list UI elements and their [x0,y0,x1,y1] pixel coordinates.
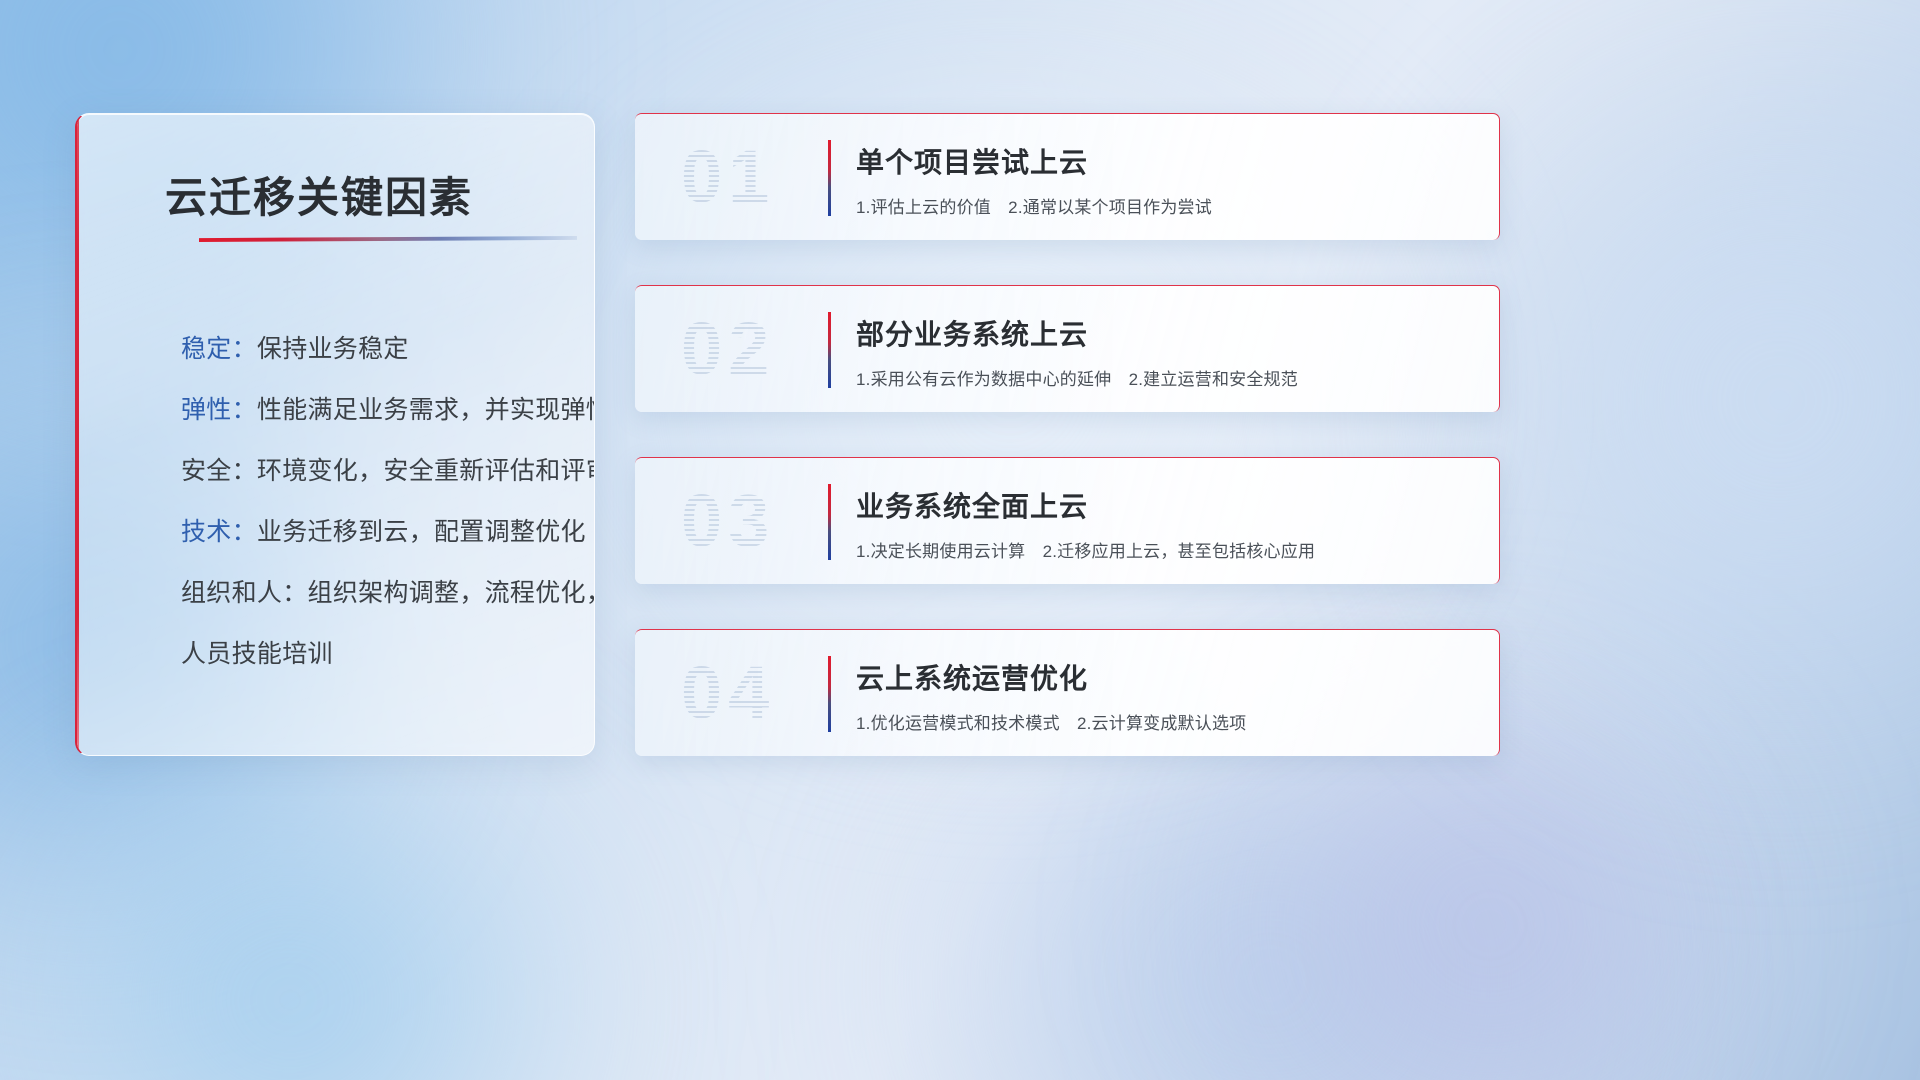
list-item: 组织和人：组织架构调整，流程优化， [181,563,570,624]
factor-label: 技术： [181,518,257,546]
step-description: 1.采用公有云作为数据中心的延伸 2.建立运营和安全规范 [856,365,1298,390]
list-item: 弹性：性能满足业务需求，并实现弹性 [181,380,570,441]
factor-text: 组织架构调整，流程优化， [308,579,595,607]
list-item: 技术：业务迁移到云，配置调整优化 [181,502,570,563]
factor-label: 组织和人： [181,579,308,607]
step-divider [828,484,831,560]
factor-text: 人员技能培训 [181,640,333,668]
step-divider [828,312,831,388]
key-factors-list: 稳定：保持业务稳定 弹性：性能满足业务需求，并实现弹性 安全：环境变化，安全重新… [181,319,570,685]
step-number-watermark: 02 [681,312,775,386]
step-number-watermark: 04 [681,656,775,730]
step-card[interactable]: 04 云上系统运营优化 1.优化运营模式和技术模式 2.云计算变成默认选项 [635,629,1500,756]
step-heading: 单个项目尝试上云 [856,141,1088,181]
step-card[interactable]: 03 业务系统全面上云 1.决定长期使用云计算 2.迁移应用上云，甚至包括核心应… [635,457,1500,584]
step-divider [828,140,831,216]
step-heading: 业务系统全面上云 [856,485,1088,525]
factor-label: 安全： [181,457,257,485]
factor-text: 保持业务稳定 [257,335,409,363]
title-underline-rule [199,236,577,242]
list-item: 人员技能培训 [181,624,570,685]
key-factors-panel: 云迁移关键因素 稳定：保持业务稳定 弹性：性能满足业务需求，并实现弹性 安全：环… [75,113,595,756]
step-heading: 云上系统运营优化 [856,657,1088,697]
page-title: 云迁移关键因素 [165,164,473,225]
factor-text: 业务迁移到云，配置调整优化 [257,518,586,546]
step-card[interactable]: 02 部分业务系统上云 1.采用公有云作为数据中心的延伸 2.建立运营和安全规范 [635,285,1500,412]
step-description: 1.评估上云的价值 2.通常以某个项目作为尝试 [856,193,1212,218]
slide-stage: 云迁移关键因素 稳定：保持业务稳定 弹性：性能满足业务需求，并实现弹性 安全：环… [0,0,1920,1080]
step-heading: 部分业务系统上云 [856,313,1088,353]
factor-text: 环境变化，安全重新评估和评审 [257,457,595,485]
step-description: 1.优化运营模式和技术模式 2.云计算变成默认选项 [856,709,1246,734]
step-number-watermark: 01 [681,140,775,214]
factor-label: 稳定： [181,335,257,363]
factor-label: 弹性： [181,396,257,424]
step-number-watermark: 03 [681,484,775,558]
step-description: 1.决定长期使用云计算 2.迁移应用上云，甚至包括核心应用 [856,537,1315,562]
factor-text: 性能满足业务需求，并实现弹性 [257,396,595,424]
step-divider [828,656,831,732]
step-card[interactable]: 01 单个项目尝试上云 1.评估上云的价值 2.通常以某个项目作为尝试 [635,113,1500,240]
list-item: 稳定：保持业务稳定 [181,319,570,380]
list-item: 安全：环境变化，安全重新评估和评审 [181,441,570,502]
